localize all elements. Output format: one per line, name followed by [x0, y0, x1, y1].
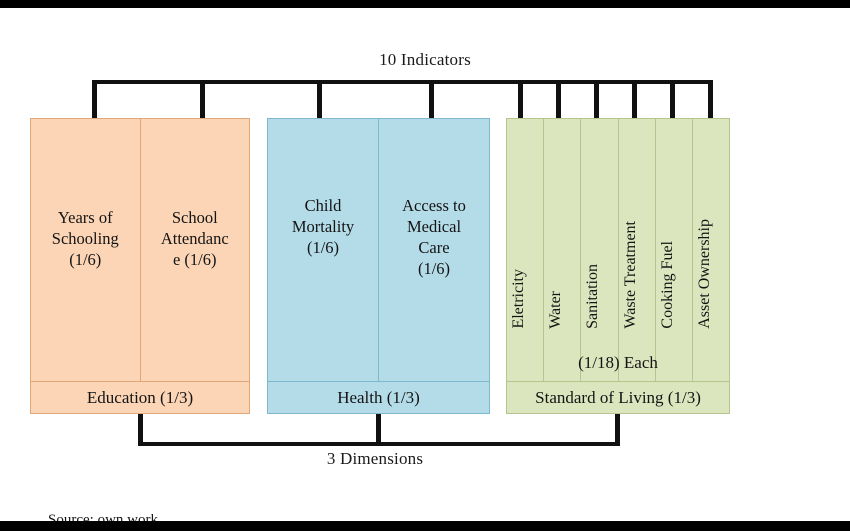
- letterbox-bar-top: [0, 0, 850, 8]
- top-connector-school-attendance: [200, 80, 205, 122]
- indicator-line: Attendanc: [145, 228, 246, 249]
- indicator-line: Schooling: [35, 228, 136, 249]
- indicator-label: Water: [548, 291, 576, 329]
- indicator-access-to-medical-care[interactable]: Access to Medical Care (1/6): [378, 119, 489, 381]
- indicator-line: Mortality: [272, 216, 374, 237]
- indicator-child-mortality[interactable]: Child Mortality (1/6): [268, 119, 378, 381]
- bottom-bracket-rail: [138, 442, 620, 446]
- top-connector-years-of-schooling: [92, 80, 97, 122]
- top-connector-sanitation: [594, 80, 599, 122]
- indicator-asset-ownership[interactable]: Asset Ownership: [692, 119, 729, 381]
- indicator-label: Asset Ownership: [697, 219, 725, 329]
- indicator-school-attendance[interactable]: School Attendanc e (1/6): [140, 119, 250, 381]
- top-connector-water: [556, 80, 561, 122]
- indicator-waste-treatment[interactable]: Waste Treatment: [618, 119, 655, 381]
- indicator-line: Years of: [35, 207, 136, 228]
- indicator-eletricity[interactable]: Eletricity: [507, 119, 543, 381]
- indicator-label: Sanitation: [585, 264, 613, 329]
- top-connector-asset-ownership: [708, 80, 713, 122]
- dimension-footer-health: Health (1/3): [268, 381, 489, 413]
- indicator-sanitation[interactable]: Sanitation: [580, 119, 617, 381]
- indicator-line: (1/6): [272, 237, 374, 258]
- indicator-line: Medical: [383, 216, 485, 237]
- indicator-label: Eletricity: [511, 269, 539, 329]
- dimension-block-education[interactable]: Years of Schooling (1/6) School Attendan…: [30, 118, 250, 414]
- indicator-years-of-schooling[interactable]: Years of Schooling (1/6): [31, 119, 140, 381]
- dimension-footer-standard-of-living: Standard of Living (1/3): [507, 381, 729, 413]
- top-connector-child-mortality: [317, 80, 322, 122]
- dimension-footer-education: Education (1/3): [31, 381, 249, 413]
- indicator-line: (1/6): [35, 249, 136, 270]
- indicator-cooking-fuel[interactable]: Cooking Fuel: [655, 119, 692, 381]
- indicator-label: Waste Treatment: [623, 221, 651, 329]
- indicator-water[interactable]: Water: [543, 119, 580, 381]
- top-connector-eletricity: [518, 80, 523, 122]
- living-indicator-row: Eletricity Water Sanitation Waste Treatm…: [507, 119, 729, 381]
- dimension-block-standard-of-living[interactable]: Eletricity Water Sanitation Waste Treatm…: [506, 118, 730, 414]
- dimension-block-health[interactable]: Child Mortality (1/6) Access to Medical …: [267, 118, 490, 414]
- figure-canvas: 10 Indicators Years of Schooling (1/6) S…: [0, 0, 850, 531]
- top-connector-waste-treatment: [632, 80, 637, 122]
- indicator-line: e (1/6): [145, 249, 246, 270]
- indicator-line: Care: [383, 237, 485, 258]
- top-connector-medical-care: [429, 80, 434, 122]
- dimensions-caption: 3 Dimensions: [0, 449, 750, 469]
- indicator-label: Cooking Fuel: [660, 241, 688, 329]
- letterbox-bar-bottom: [0, 521, 850, 531]
- top-bracket-rail: [92, 80, 712, 84]
- indicator-line: (1/6): [383, 258, 485, 279]
- education-indicator-row: Years of Schooling (1/6) School Attendan…: [31, 119, 249, 381]
- health-indicator-row: Child Mortality (1/6) Access to Medical …: [268, 119, 489, 381]
- indicators-caption: 10 Indicators: [0, 50, 850, 70]
- top-connector-cooking-fuel: [670, 80, 675, 122]
- indicator-line: Access to: [383, 195, 485, 216]
- indicator-line: School: [145, 207, 246, 228]
- indicator-line: Child: [272, 195, 374, 216]
